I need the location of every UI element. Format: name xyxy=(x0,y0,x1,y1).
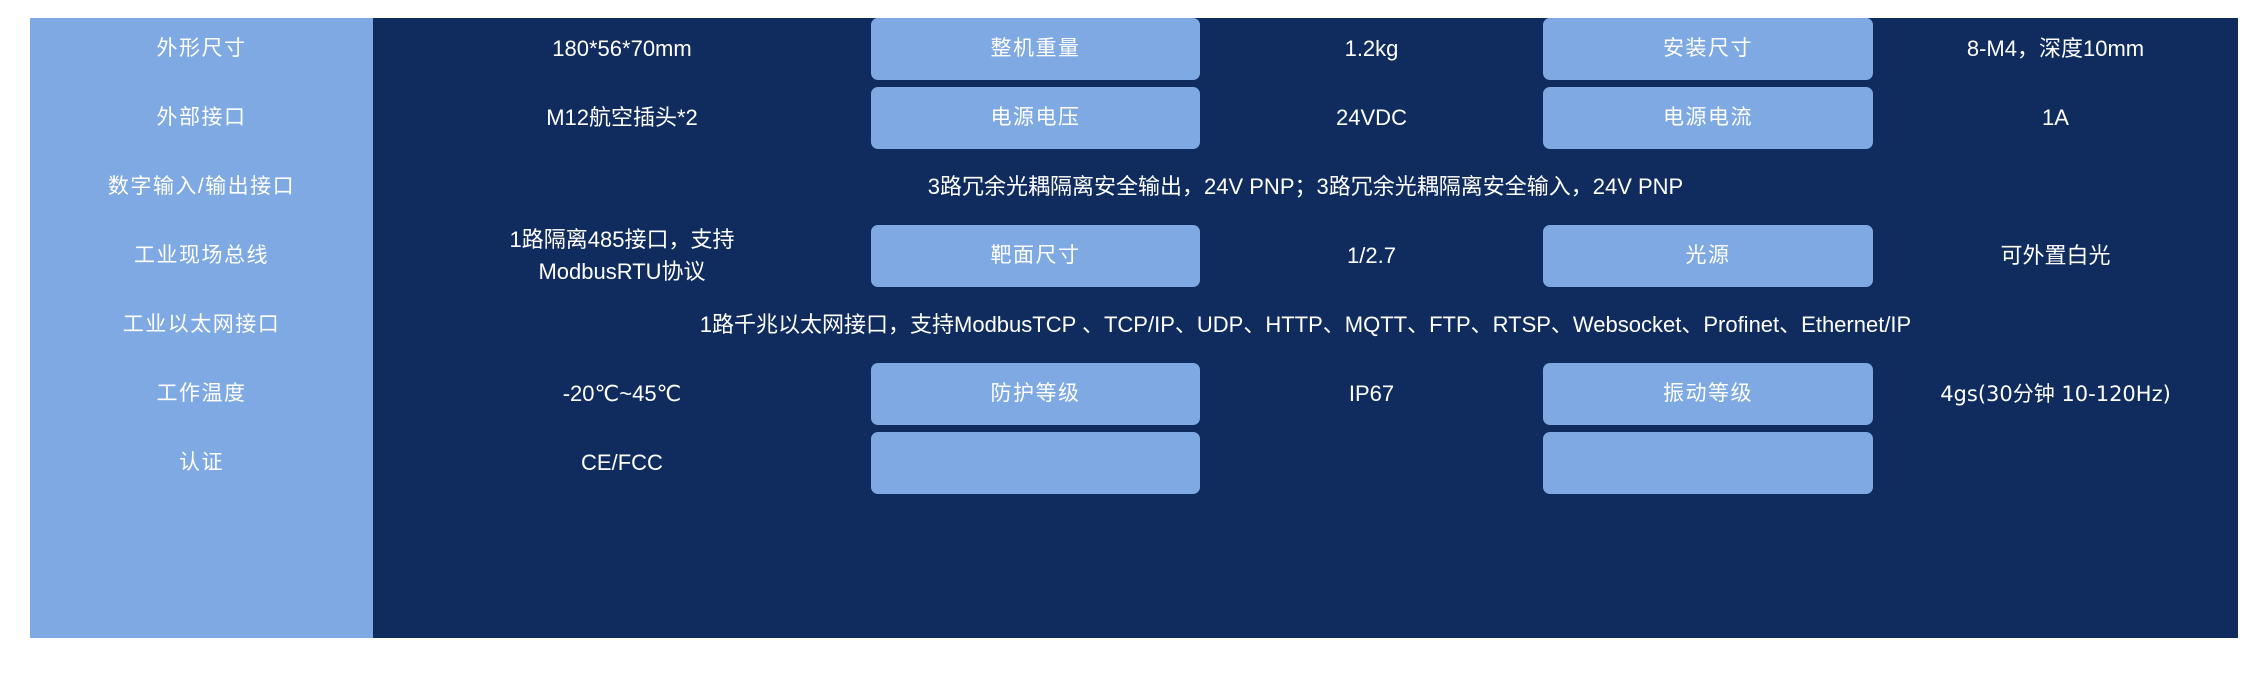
value-dimensions: 180*56*70mm xyxy=(373,18,871,80)
value-supply-current: 1A xyxy=(1873,87,2238,149)
value-fieldbus: 1路隔离485接口，支持 ModbusRTU协议 xyxy=(373,225,871,287)
value-empty-col3 xyxy=(1873,432,2238,494)
value-fieldbus-line2: ModbusRTU协议 xyxy=(510,256,735,288)
tag-vibration-rating: 振动等级 xyxy=(1543,363,1873,425)
value-external-interface: M12航空插头*2 xyxy=(373,87,871,149)
tag-light-source: 光源 xyxy=(1543,225,1873,287)
value-digital-io: 3路冗余光耦隔离安全输出，24V PNP；3路冗余光耦隔离安全输入，24V PN… xyxy=(373,156,2238,218)
row-label-certification: 认证 xyxy=(30,432,373,494)
row-label-dimensions: 外形尺寸 xyxy=(30,18,373,80)
table-row: 认证 CE/FCC xyxy=(0,432,2265,494)
value-mounting-dimensions: 8-M4，深度10mm xyxy=(1873,18,2238,80)
tag-total-weight: 整机重量 xyxy=(871,18,1200,80)
row-label-operating-temperature: 工作温度 xyxy=(30,363,373,425)
tag-empty-col2 xyxy=(871,432,1200,494)
tag-protection-rating: 防护等级 xyxy=(871,363,1200,425)
value-total-weight: 1.2kg xyxy=(1200,18,1543,80)
value-sensor-size: 1/2.7 xyxy=(1200,225,1543,287)
value-operating-temperature: -20℃~45℃ xyxy=(373,363,871,425)
row-label-external-interface: 外部接口 xyxy=(30,87,373,149)
tag-supply-voltage: 电源电压 xyxy=(871,87,1200,149)
tag-sensor-size: 靶面尺寸 xyxy=(871,225,1200,287)
row-label-industrial-ethernet: 工业以太网接口 xyxy=(30,294,373,356)
value-supply-voltage: 24VDC xyxy=(1200,87,1543,149)
value-certification: CE/FCC xyxy=(373,432,871,494)
row-label-digital-io: 数字输入/输出接口 xyxy=(30,156,373,218)
table-row: 工作温度 -20℃~45℃ 防护等级 IP67 振动等级 4gs(30分钟 10… xyxy=(0,363,2265,425)
tag-mounting-dimensions: 安装尺寸 xyxy=(1543,18,1873,80)
value-empty-col2 xyxy=(1200,432,1543,494)
table-row: 数字输入/输出接口 3路冗余光耦隔离安全输出，24V PNP；3路冗余光耦隔离安… xyxy=(0,156,2265,218)
table-row: 外形尺寸 180*56*70mm 整机重量 1.2kg 安装尺寸 8-M4，深度… xyxy=(0,18,2265,80)
spec-table: 外形尺寸 180*56*70mm 整机重量 1.2kg 安装尺寸 8-M4，深度… xyxy=(0,0,2265,675)
tag-supply-current: 电源电流 xyxy=(1543,87,1873,149)
table-row: 工业以太网接口 1路千兆以太网接口，支持ModbusTCP 、TCP/IP、UD… xyxy=(0,294,2265,356)
table-row: 工业现场总线 1路隔离485接口，支持 ModbusRTU协议 靶面尺寸 1/2… xyxy=(0,225,2265,287)
table-row: 外部接口 M12航空插头*2 电源电压 24VDC 电源电流 1A xyxy=(0,87,2265,149)
tag-empty-col3 xyxy=(1543,432,1873,494)
value-fieldbus-line1: 1路隔离485接口，支持 xyxy=(510,224,735,256)
value-industrial-ethernet: 1路千兆以太网接口，支持ModbusTCP 、TCP/IP、UDP、HTTP、M… xyxy=(373,294,2238,356)
value-protection-rating: IP67 xyxy=(1200,363,1543,425)
value-vibration-rating: 4gs(30分钟 10-120Hz) xyxy=(1873,363,2238,425)
value-light-source: 可外置白光 xyxy=(1873,225,2238,287)
row-label-fieldbus: 工业现场总线 xyxy=(30,225,373,287)
